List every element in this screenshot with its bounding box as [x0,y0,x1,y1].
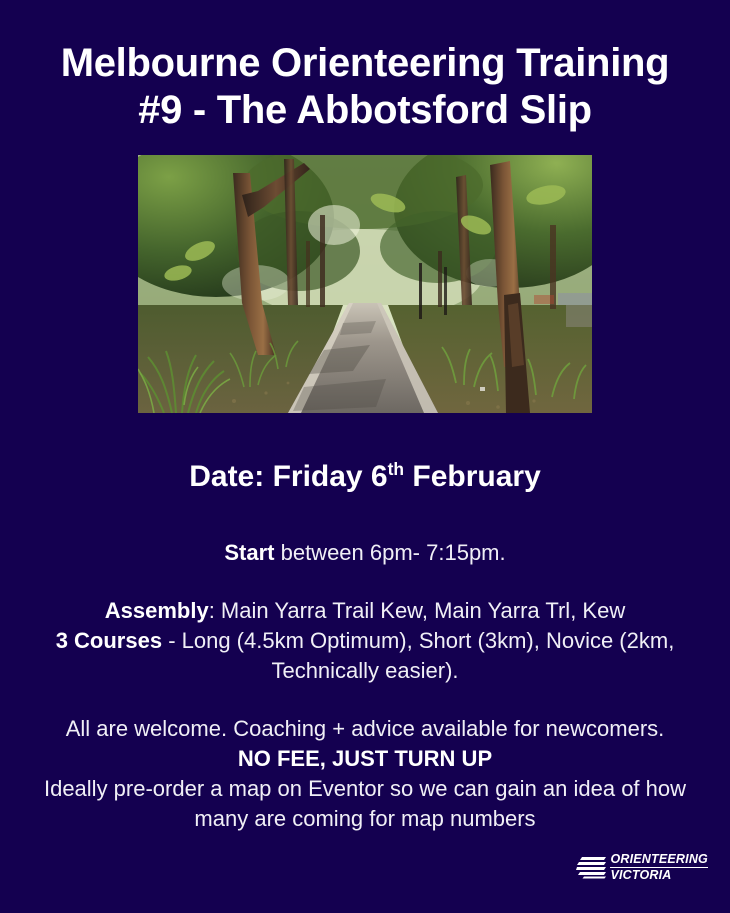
event-date-month: February [404,460,541,493]
logo-wordmark: ORIENTEERING VICTORIA [610,853,708,881]
orienteering-victoria-logo: ORIENTEERING VICTORIA [576,853,708,881]
start-time-line: Start between 6pm- 7:15pm. [20,538,710,568]
logo-line-2: VICTORIA [610,867,708,882]
courses-label: 3 Courses [56,628,162,653]
logo-line-1: ORIENTEERING [610,853,708,866]
assembly-line: Assembly: Main Yarra Trail Kew, Main Yar… [20,596,710,686]
title-line-1: Melbourne Orienteering Training [0,40,730,87]
assembly-label: Assembly [105,598,209,623]
courses-text: - Long (4.5km Optimum), Short (3km), Nov… [162,628,674,683]
preorder-text: Ideally pre-order a map on Eventor so we… [44,776,686,831]
event-date-ordinal: th [388,459,404,479]
welcome-text: All are welcome. Coaching + advice avail… [66,716,665,741]
trail-photo-illustration [138,155,592,413]
event-date: Date: Friday 6th February [189,459,541,495]
start-text: between 6pm- 7:15pm. [274,540,505,565]
assembly-text: : Main Yarra Trail Kew, Main Yarra Trl, … [209,598,626,623]
no-fee-text: NO FEE, JUST TURN UP [238,746,492,771]
title-line-2: #9 - The Abbotsford Slip [0,87,730,134]
event-details: Start between 6pm- 7:15pm. Assembly: Mai… [20,495,710,834]
page-title: Melbourne Orienteering Training #9 - The… [0,40,730,134]
notes-block: All are welcome. Coaching + advice avail… [20,714,710,834]
trail-photo [138,155,592,413]
event-poster: Melbourne Orienteering Training #9 - The… [0,0,730,913]
speed-lines-icon [576,855,606,879]
start-label: Start [224,540,274,565]
event-date-text: Date: Friday 6 [189,460,387,493]
